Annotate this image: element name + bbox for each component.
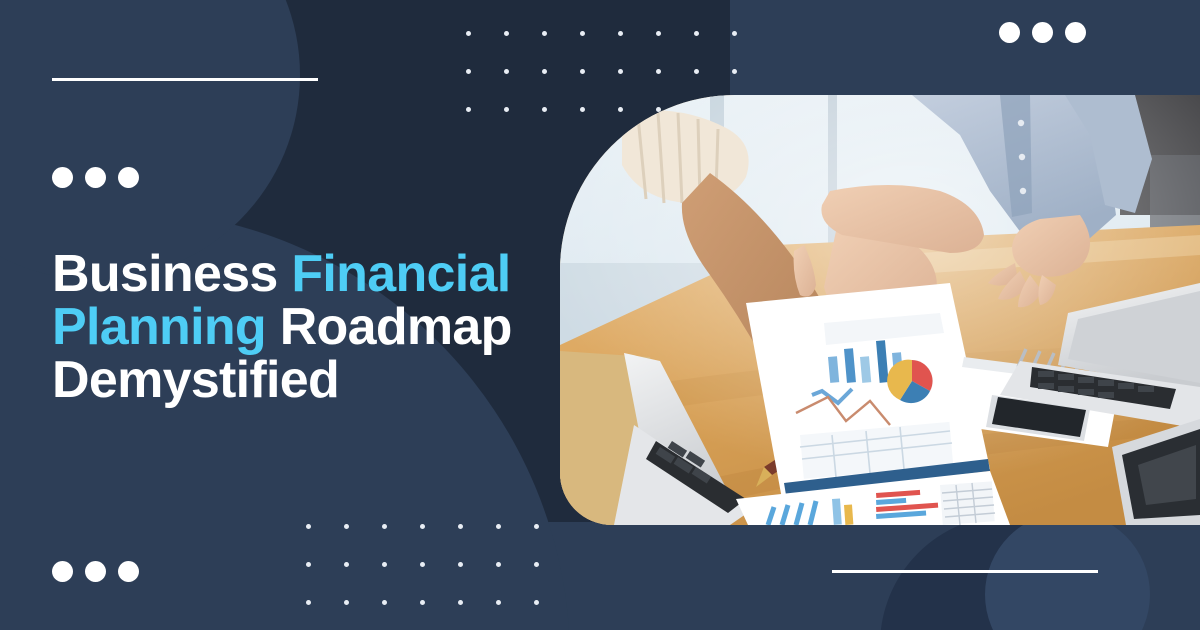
three-dots-bottom-left xyxy=(52,561,139,582)
dot-icon xyxy=(344,524,349,529)
dot-icon xyxy=(306,562,311,567)
dot-icon xyxy=(1065,22,1086,43)
dot-icon xyxy=(732,69,737,74)
dot-icon xyxy=(732,31,737,36)
dot-icon xyxy=(534,600,539,605)
dot-icon xyxy=(496,600,501,605)
dot-icon xyxy=(496,524,501,529)
dot-icon xyxy=(382,562,387,567)
title-part-accent-2: Planning xyxy=(52,298,266,356)
dot-icon xyxy=(306,524,311,529)
dot-icon xyxy=(496,562,501,567)
dot-icon xyxy=(466,107,471,112)
dot-icon xyxy=(656,31,661,36)
photo-illustration xyxy=(560,95,1200,525)
page-title: Business Financial Planning Roadmap Demy… xyxy=(52,248,552,407)
divider-line-bottom xyxy=(832,570,1098,573)
three-dots-top-right xyxy=(999,22,1086,43)
dot-icon xyxy=(580,31,585,36)
dot-icon xyxy=(534,562,539,567)
dot-icon xyxy=(534,524,539,529)
dot-icon xyxy=(542,31,547,36)
dot-icon xyxy=(618,69,623,74)
dot-icon xyxy=(694,69,699,74)
dot-icon xyxy=(618,31,623,36)
dot-matrix-bottom xyxy=(306,524,539,605)
dot-icon xyxy=(344,562,349,567)
dot-icon xyxy=(1032,22,1053,43)
dot-icon xyxy=(999,22,1020,43)
dot-icon xyxy=(694,31,699,36)
title-part-accent-1: Financial xyxy=(291,245,510,303)
dot-icon xyxy=(466,31,471,36)
divider-line-top xyxy=(52,78,318,81)
dot-icon xyxy=(382,600,387,605)
three-dots-top-left xyxy=(52,167,139,188)
dot-icon xyxy=(306,600,311,605)
dot-icon xyxy=(458,562,463,567)
dot-icon xyxy=(382,524,387,529)
dot-icon xyxy=(504,31,509,36)
dot-icon xyxy=(580,107,585,112)
dot-icon xyxy=(656,69,661,74)
dot-icon xyxy=(85,167,106,188)
title-part-plain-2: Roadmap xyxy=(266,298,512,356)
dot-icon xyxy=(458,524,463,529)
dot-icon xyxy=(52,561,73,582)
dot-icon xyxy=(542,69,547,74)
decorative-circle-top-left xyxy=(0,0,300,280)
dot-icon xyxy=(458,600,463,605)
title-part-plain-1: Business xyxy=(52,245,291,303)
dot-icon xyxy=(344,600,349,605)
dot-icon xyxy=(618,107,623,112)
dot-icon xyxy=(504,69,509,74)
dot-icon xyxy=(466,69,471,74)
dot-icon xyxy=(52,167,73,188)
dot-icon xyxy=(85,561,106,582)
title-part-plain-3: Demystified xyxy=(52,351,339,409)
dot-icon xyxy=(420,600,425,605)
dot-icon xyxy=(420,562,425,567)
dot-icon xyxy=(420,524,425,529)
dot-icon xyxy=(118,167,139,188)
dot-icon xyxy=(542,107,547,112)
business-meeting-photo xyxy=(560,95,1200,525)
dot-icon xyxy=(118,561,139,582)
social-share-banner: Business Financial Planning Roadmap Demy… xyxy=(0,0,1200,630)
background-wash-bottom xyxy=(0,522,1200,630)
dot-icon xyxy=(504,107,509,112)
dot-icon xyxy=(580,69,585,74)
